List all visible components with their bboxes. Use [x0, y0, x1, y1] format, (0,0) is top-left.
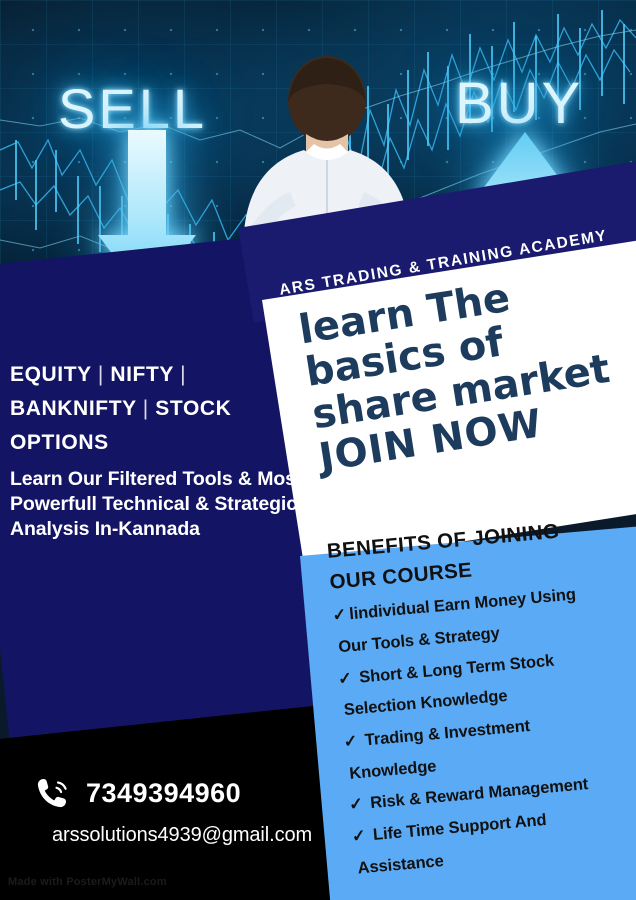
phone-contact-row[interactable]: 7349394960	[36, 776, 241, 810]
service-separator-3: |	[143, 397, 149, 420]
phone-icon	[36, 776, 72, 810]
benefits-block: BENEFITS OF JOINING OUR COURSE ✓lindivid…	[326, 513, 636, 885]
check-icon: ✓	[348, 795, 363, 814]
phone-number[interactable]: 7349394960	[86, 778, 241, 809]
poster-root: SELL BUY	[0, 0, 636, 900]
postermywall-watermark: Made with PosterMyWall.com	[8, 876, 167, 888]
benefit-item-label: Knowledge	[349, 757, 437, 783]
benefit-item-label: Assistance	[357, 852, 444, 877]
service-separator-2: |	[180, 363, 186, 386]
buy-label: BUY	[455, 70, 583, 137]
check-icon: ✓	[337, 669, 352, 688]
service-stock: STOCK	[155, 397, 231, 420]
service-nifty: NIFTY	[110, 363, 173, 386]
service-banknifty: BANKNIFTY	[10, 397, 136, 420]
check-icon: ✓	[351, 827, 366, 846]
email-address[interactable]: arssolutions4939@gmail.com	[52, 824, 312, 847]
benefits-list: ✓lindividual Earn Money UsingOur Tools &…	[331, 574, 636, 885]
check-icon: ✓	[332, 606, 347, 625]
services-blurb: Learn Our Filtered Tools & Most Powerful…	[10, 467, 330, 542]
service-equity: EQUITY	[10, 363, 91, 386]
service-separator-1: |	[98, 363, 104, 386]
check-icon: ✓	[343, 732, 358, 751]
